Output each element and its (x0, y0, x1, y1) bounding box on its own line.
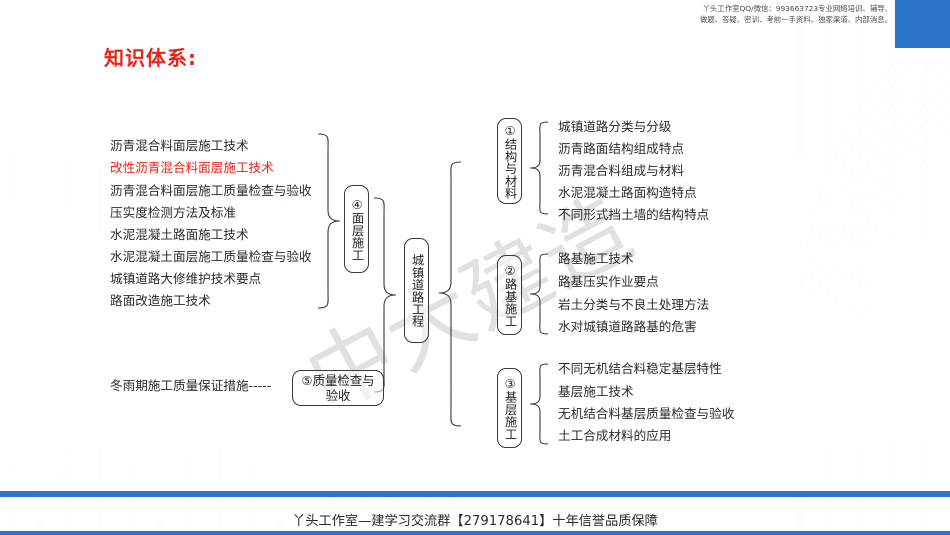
brace-left-items (316, 132, 342, 310)
branch2-item-0: 路基施工技术 (558, 253, 634, 266)
branch3-item-0: 不同无机结合料稳定基层特性 (558, 363, 722, 376)
node-mianceng-shigong[interactable]: ④面层施工 (344, 185, 369, 273)
brace-branch3-items (528, 362, 550, 446)
page-title: 知识体系: (104, 42, 197, 71)
node-lujin-shigong[interactable]: ②路基施工 (497, 255, 522, 335)
branch2-item-2: 岩土分类与不良土处理方法 (558, 299, 709, 312)
branch3-item-3: 土工合成材料的应用 (558, 430, 671, 443)
branch2-item-3: 水对城镇道路路基的危害 (558, 321, 697, 334)
brace-center-to-right-nodes (435, 160, 463, 430)
left-item-4: 水泥混凝土路面施工技术 (110, 229, 249, 242)
left-item-6: 城镇道路大修维护技术要点 (110, 273, 261, 286)
branch1-item-0: 城镇道路分类与分级 (558, 121, 671, 134)
header-note-line2: 做题、答疑、密训、考前一手资料、独家渠道、内部消息。 (622, 15, 892, 26)
header-contact-note: 丫头工作室QQ/微信：993663723专业网络培训、辅导、 做题、答疑、密训、… (622, 4, 892, 25)
node-zhiliang-jiancha-yu-yanshou[interactable]: ⑤质量检查与验收 (292, 370, 384, 406)
branch3-item-2: 无机结合料基层质量检查与验收 (558, 408, 734, 421)
node-jiceng-shigong[interactable]: ③基层施工 (497, 368, 522, 448)
left-item-2: 沥青混合料面层施工质量检查与验收 (110, 185, 312, 198)
left-item-0: 沥青混合料面层施工技术 (110, 140, 249, 153)
slide-canvas: 中大建造 丫头工作室QQ/微信：993663723专业网络培训、辅导、 做题、答… (0, 0, 950, 535)
footer-text: 丫头工作室—建学习交流群【279178641】十年信誉品质保障 (0, 510, 950, 529)
brace-left-nodes-to-center (372, 196, 398, 396)
branch1-item-3: 水泥混凝土路面构造特点 (558, 187, 697, 200)
header-accent-block (895, 0, 950, 48)
footer-accent-bar (0, 491, 950, 497)
node-center-urban-road-engineering[interactable]: 城镇道路工程 (404, 238, 429, 343)
branch1-item-4: 不同形式挡土墙的结构特点 (558, 209, 709, 222)
branch1-item-1: 沥青路面结构组成特点 (558, 143, 684, 156)
left-item-7: 路面改造施工技术 (110, 295, 211, 308)
branch2-item-1: 路基压实作业要点 (558, 276, 659, 289)
knowledge-map-diagram: 沥青混合料面层施工技术 改性沥青混合料面层施工技术 沥青混合料面层施工质量检查与… (0, 0, 950, 535)
node-jiegou-yu-cailiao[interactable]: ①结构与材料 (497, 118, 522, 204)
bottom-left-item-0: 冬雨期施工质量保证措施----- (110, 380, 271, 393)
left-item-3: 压实度检测方法及标准 (110, 207, 236, 220)
left-item-1: 改性沥青混合料面层施工技术 (110, 162, 274, 175)
brace-branch2-items (528, 252, 550, 336)
left-item-5: 水泥混凝土面层施工质量检查与验收 (110, 251, 312, 264)
header-note-line1: 丫头工作室QQ/微信：993663723专业网络培训、辅导、 (622, 4, 892, 15)
branch1-item-2: 沥青混合料组成与材料 (558, 165, 684, 178)
footer-bottom-strip (0, 531, 950, 535)
brace-branch1-items (528, 120, 550, 216)
branch3-item-1: 基层施工技术 (558, 386, 634, 399)
